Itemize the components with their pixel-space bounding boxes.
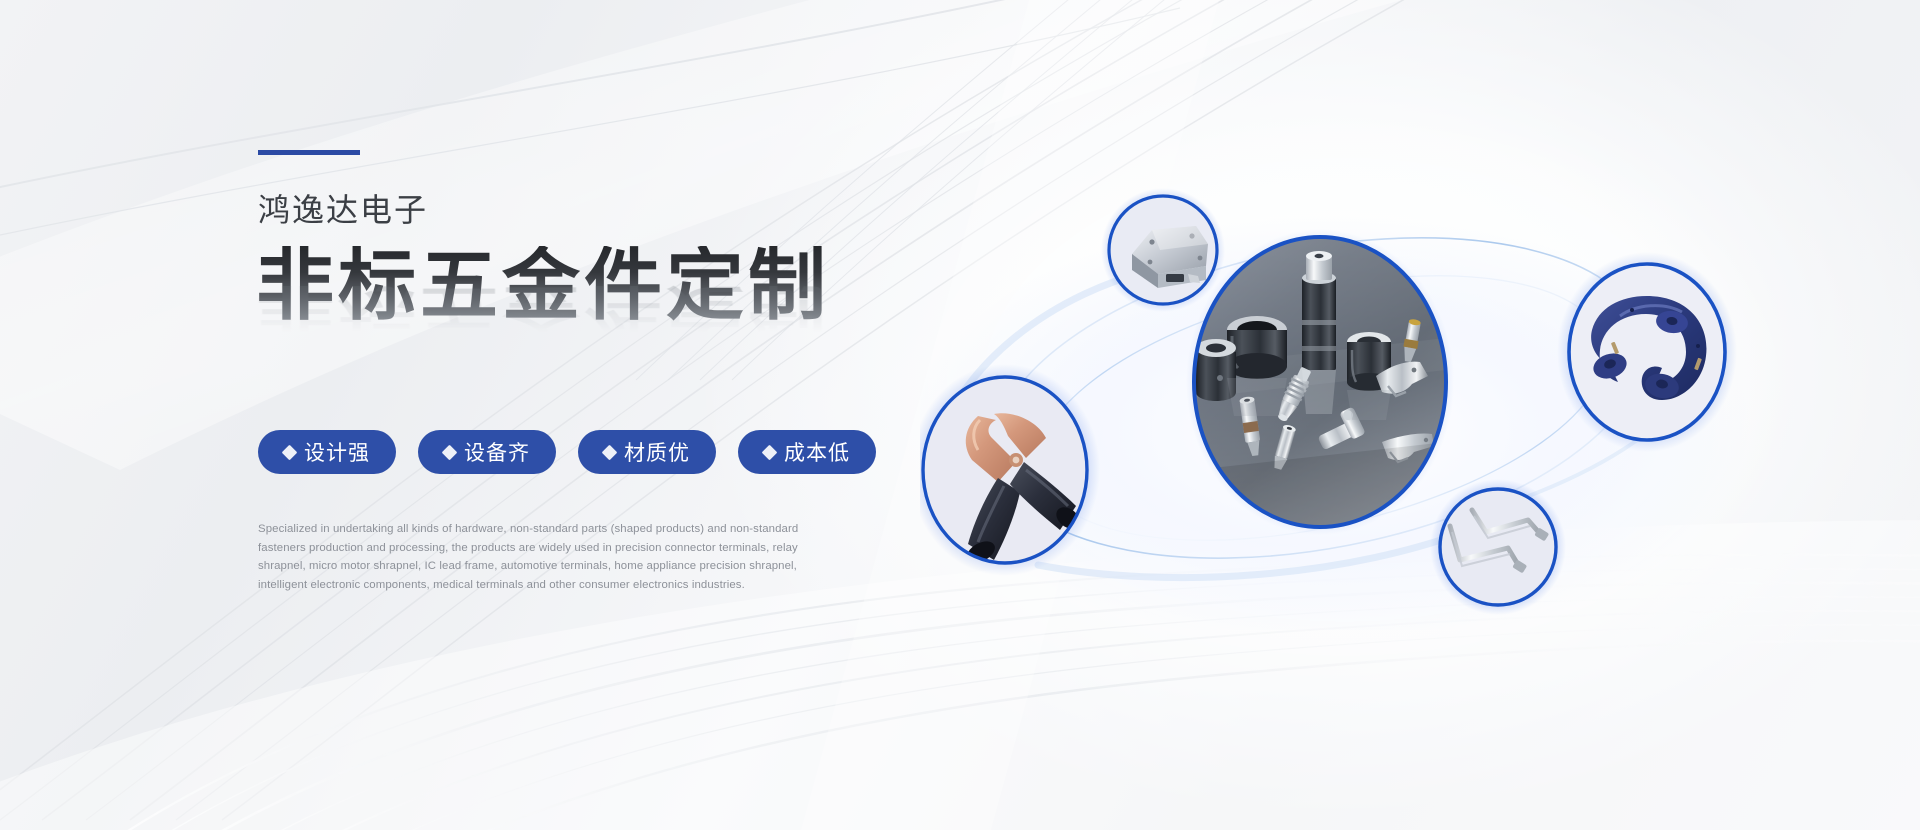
diamond-icon bbox=[602, 444, 618, 460]
product-illustration bbox=[920, 170, 1760, 630]
feature-tag-list: 设计强 设备齐 材质优 成本低 bbox=[258, 430, 878, 474]
description-paragraph: Specialized in undertaking all kinds of … bbox=[258, 520, 820, 594]
product-circle-bent-wire-terminals bbox=[1430, 479, 1566, 615]
feature-tag-cost[interactable]: 成本低 bbox=[738, 430, 876, 474]
headline-block: 非标五金件定制 非标五金件定制 bbox=[256, 246, 878, 378]
hero-text-column: 鸿逸达电子 非标五金件定制 非标五金件定制 设计强 设备齐 材质优 成本低 bbox=[258, 150, 878, 594]
feature-tag-design[interactable]: 设计强 bbox=[258, 430, 396, 474]
diamond-icon bbox=[442, 444, 458, 460]
feature-tag-label: 设计强 bbox=[304, 437, 370, 467]
hero-banner: 鸿逸达电子 非标五金件定制 非标五金件定制 设计强 设备齐 材质优 成本低 bbox=[0, 0, 1920, 830]
product-circle-precision-cnc-parts bbox=[1186, 229, 1454, 535]
diamond-icon bbox=[282, 444, 298, 460]
product-circle-metal-enclosure-box bbox=[1101, 188, 1225, 312]
feature-tag-label: 设备齐 bbox=[464, 437, 530, 467]
feature-tag-label: 成本低 bbox=[784, 437, 850, 467]
feature-tag-equipment[interactable]: 设备齐 bbox=[418, 430, 556, 474]
feature-tag-label: 材质优 bbox=[624, 437, 690, 467]
feature-tag-material[interactable]: 材质优 bbox=[578, 430, 716, 474]
accent-rule bbox=[258, 150, 360, 155]
page-title: 非标五金件定制 bbox=[256, 246, 878, 324]
brand-name: 鸿逸达电子 bbox=[258, 193, 878, 228]
product-circle-navy-retaining-ring bbox=[1557, 252, 1737, 452]
diamond-icon bbox=[762, 444, 778, 460]
